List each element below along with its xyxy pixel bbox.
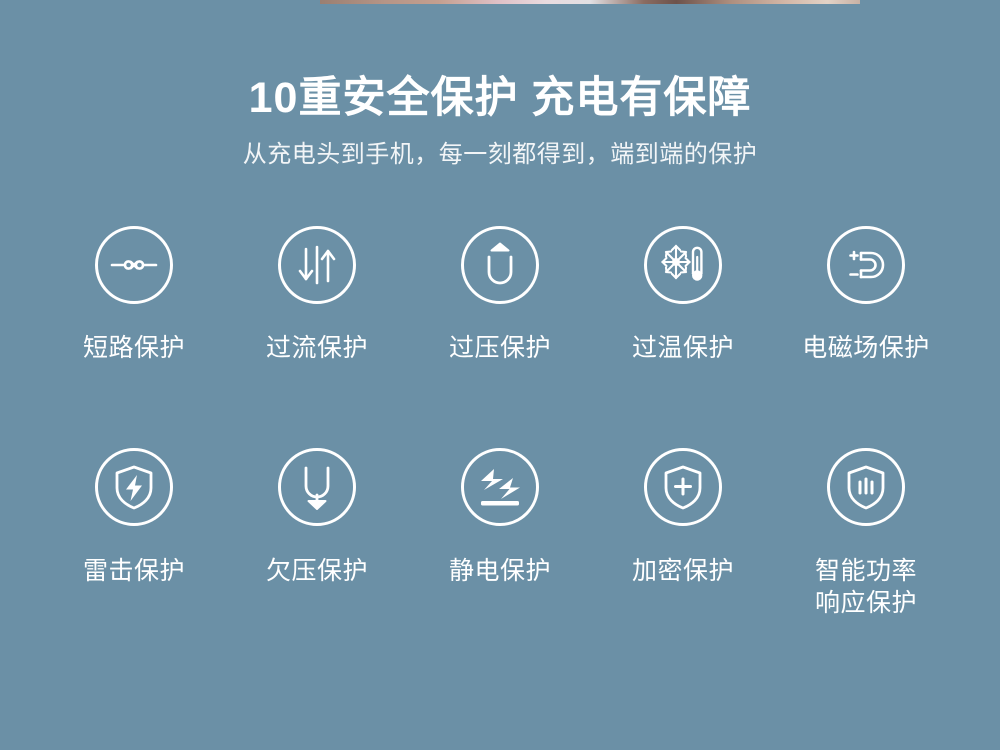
- protection-item-label: 欠压保护: [266, 555, 368, 587]
- protection-row-2: 雷击保护 欠压保护: [0, 448, 1000, 619]
- shield-plus-icon: [644, 448, 722, 526]
- shield-lightning-icon: [95, 448, 173, 526]
- protection-item-lightning-strike: 雷击保护: [43, 448, 226, 587]
- protection-item-short-circuit: 短路保护: [43, 226, 226, 364]
- protection-item-label: 过流保护: [266, 332, 368, 364]
- horseshoe-magnet-icon: [827, 226, 905, 304]
- protection-item-label: 过压保护: [449, 332, 551, 364]
- protection-item-label: 过温保护: [632, 332, 734, 364]
- over-current-arrows-icon: [278, 226, 356, 304]
- protection-item-label: 雷击保护: [83, 555, 185, 587]
- protection-item-under-voltage: 欠压保护: [226, 448, 409, 587]
- short-circuit-icon: [95, 226, 173, 304]
- protection-item-smart-power-response: 智能功率 响应保护: [775, 448, 958, 619]
- static-discharge-bolts-icon: [461, 448, 539, 526]
- over-voltage-u-up-icon: [461, 226, 539, 304]
- page-subtitle: 从充电头到手机，每一刻都得到，端到端的保护: [0, 141, 1000, 170]
- protection-item-encryption: 加密保护: [592, 448, 775, 587]
- under-voltage-u-down-icon: [278, 448, 356, 526]
- protection-item-label: 加密保护: [632, 555, 734, 587]
- safety-protection-panel: 10重安全保护 充电有保障 从充电头到手机，每一刻都得到，端到端的保护 短路保护: [0, 0, 1000, 750]
- shield-bars-icon: [827, 448, 905, 526]
- protection-item-over-voltage: 过压保护: [409, 226, 592, 364]
- protection-item-label: 静电保护: [449, 555, 551, 587]
- page-title: 10重安全保护 充电有保障: [0, 74, 1000, 123]
- protection-item-label: 电磁场保护: [802, 332, 930, 364]
- protection-item-label: 短路保护: [83, 332, 185, 364]
- header: 10重安全保护 充电有保障 从充电头到手机，每一刻都得到，端到端的保护: [0, 0, 1000, 170]
- protection-item-over-temperature: 过温保护: [592, 226, 775, 364]
- protection-item-over-current: 过流保护: [226, 226, 409, 364]
- protection-item-label: 智能功率 响应保护: [815, 555, 917, 619]
- protection-row-1: 短路保护 过流保护: [0, 226, 1000, 364]
- snowflake-thermometer-icon: [644, 226, 722, 304]
- protection-item-electromagnetic-field: 电磁场保护: [775, 226, 958, 364]
- protection-item-static-electricity: 静电保护: [409, 448, 592, 587]
